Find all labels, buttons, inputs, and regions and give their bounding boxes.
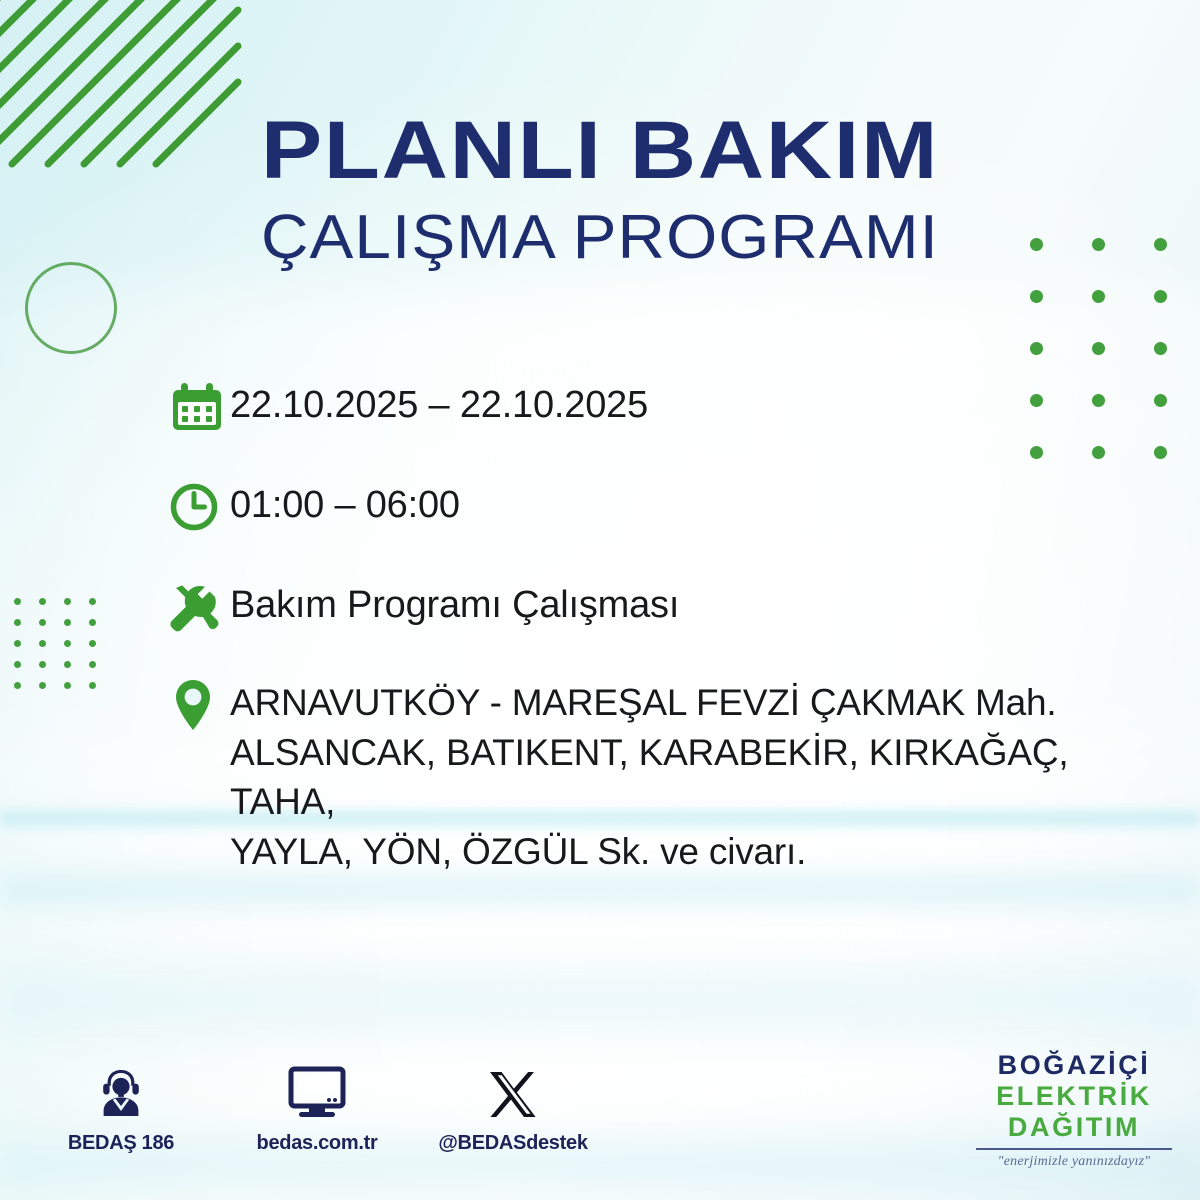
brand-divider [976, 1148, 1172, 1150]
calendar-icon [168, 378, 230, 440]
detail-row-time: 01:00 – 06:00 [168, 478, 1168, 540]
x-twitter-icon [438, 1060, 588, 1122]
contact-x-account[interactable]: @BEDASdestek [438, 1060, 588, 1155]
poster-footer: BEDAŞ 186 bedas.com.tr [0, 1050, 1200, 1200]
planned-maintenance-poster: PLANLI BAKIM ÇALIŞMA PROGRAMI [0, 0, 1200, 1200]
brand-tagline: "enerjimizle yanınızdayız" [968, 1155, 1180, 1169]
circle-outline-decoration [25, 262, 117, 354]
detail-row-date: 22.10.2025 – 22.10.2025 [168, 378, 1168, 440]
page-subtitle: ÇALIŞMA PROGRAMI [0, 207, 1200, 269]
contact-website-label: bedas.com.tr [242, 1132, 392, 1155]
work-type-text: Bakım Programı Çalışması [230, 580, 679, 624]
clock-icon [168, 478, 230, 540]
dot-grid-decoration-left [14, 598, 114, 698]
contact-phone[interactable]: BEDAŞ 186 [46, 1060, 196, 1155]
contact-website[interactable]: bedas.com.tr [242, 1060, 392, 1155]
time-range-text: 01:00 – 06:00 [230, 478, 460, 524]
brand-line-dagitim: DAĞITIM [968, 1114, 1180, 1141]
brand-line-bogazici: BOĞAZİÇİ [968, 1052, 1180, 1079]
detail-row-work-type: Bakım Programı Çalışması [168, 580, 1168, 642]
date-range-text: 22.10.2025 – 22.10.2025 [230, 378, 648, 424]
monitor-icon [242, 1060, 392, 1122]
brand-logo: BOĞAZİÇİ ELEKTRİK DAĞITIM "enerjimizle y… [968, 1052, 1180, 1169]
poster-heading: PLANLI BAKIM ÇALIŞMA PROGRAMI [0, 112, 1200, 269]
brand-line-elektrik: ELEKTRİK [968, 1083, 1180, 1110]
maintenance-details: 22.10.2025 – 22.10.2025 01:00 – 06:00 [168, 378, 1168, 876]
contact-x-label: @BEDASdestek [438, 1132, 588, 1155]
tools-icon [168, 580, 230, 642]
contact-channels: BEDAŞ 186 bedas.com.tr [46, 1060, 588, 1155]
location-address-text: ARNAVUTKÖY - MAREŞAL FEVZİ ÇAKMAK Mah. A… [230, 676, 1168, 876]
page-title: PLANLI BAKIM [0, 112, 1200, 191]
contact-phone-label: BEDAŞ 186 [46, 1132, 196, 1155]
background-ripple-band [0, 940, 1200, 1060]
support-agent-icon [46, 1060, 196, 1122]
location-pin-icon [168, 676, 230, 738]
detail-row-location: ARNAVUTKÖY - MAREŞAL FEVZİ ÇAKMAK Mah. A… [168, 676, 1168, 876]
